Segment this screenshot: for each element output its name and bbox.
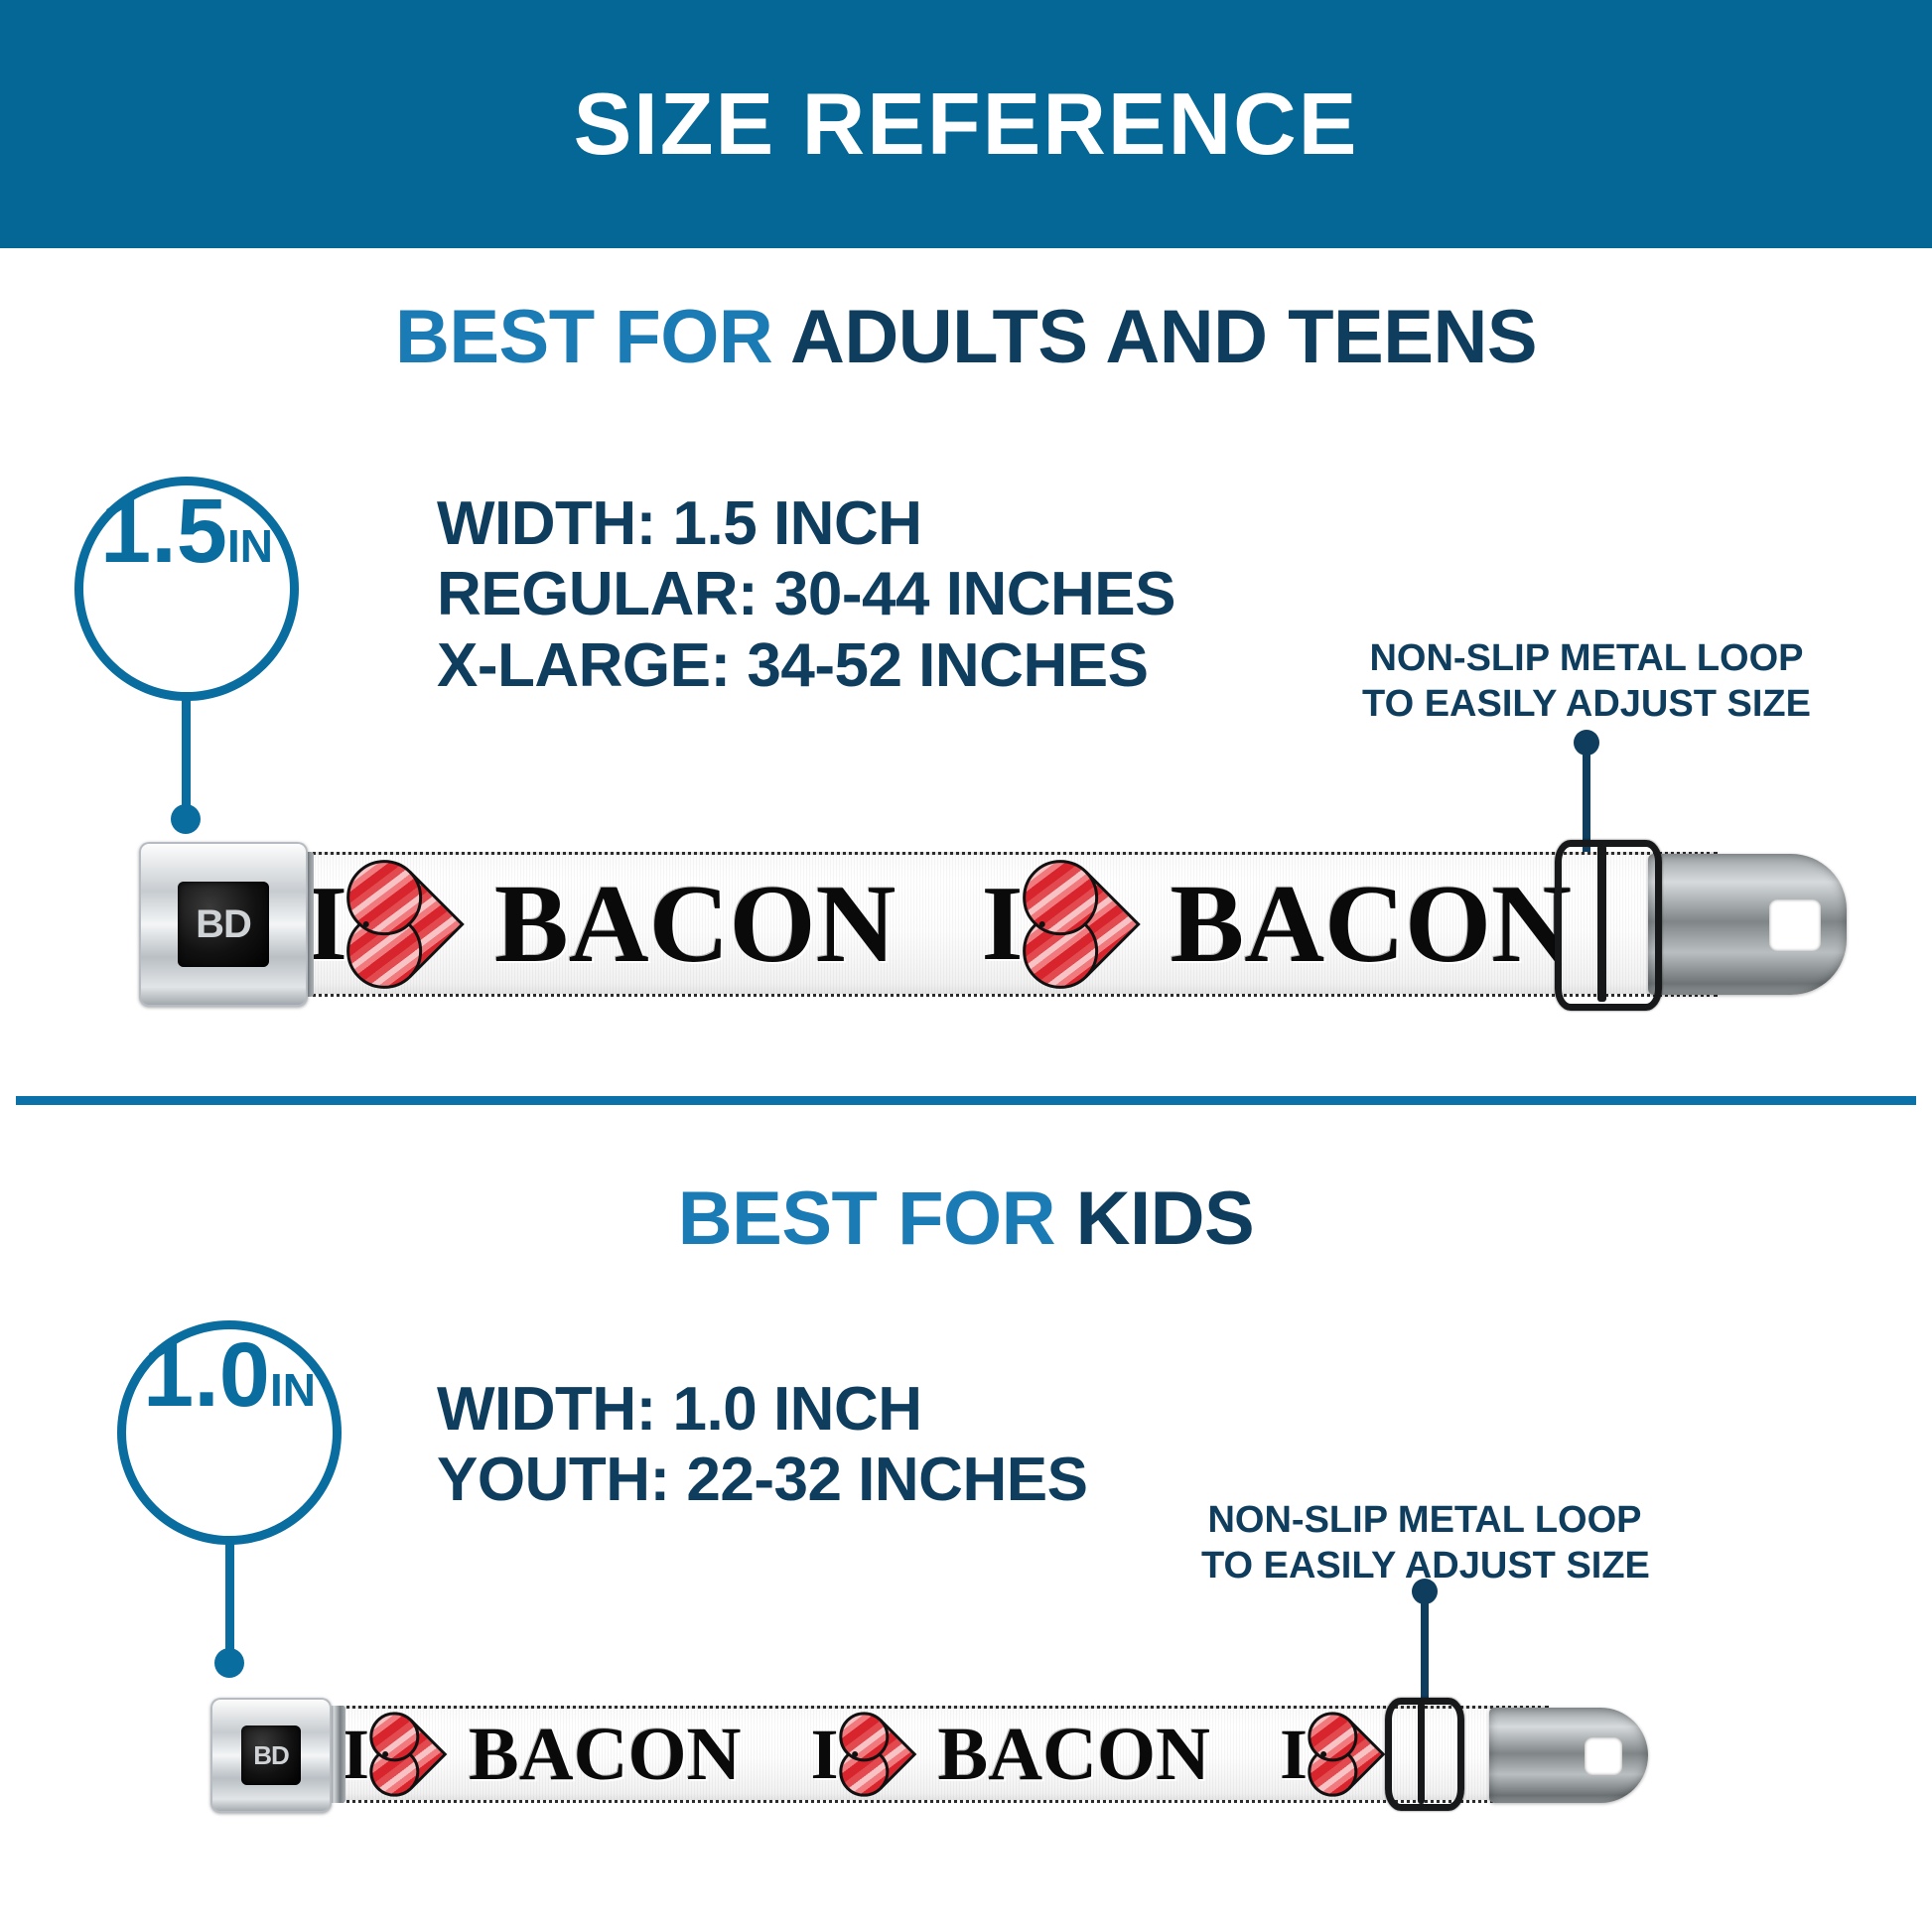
strap-word-bacon: BACON xyxy=(494,869,896,980)
callout-adults-line xyxy=(1583,743,1590,852)
belt-metal-tongue-adults xyxy=(1648,854,1847,995)
belt-buckle-kids[interactable]: BD xyxy=(210,1698,332,1813)
section-heading-kids-emphasis: KIDS xyxy=(1076,1176,1255,1261)
spec-list-adults: WIDTH: 1.5 INCH REGULAR: 30-44 INCHES X-… xyxy=(437,488,1175,701)
belt-buckle-adults[interactable]: BD xyxy=(139,842,308,1007)
spec-line: WIDTH: 1.0 INCH xyxy=(437,1374,1087,1445)
bacon-heart-icon xyxy=(846,1720,916,1790)
belt-loop-center-bar xyxy=(1597,845,1606,1002)
belt-loop-center-bar xyxy=(1418,1703,1425,1804)
heart-lobe xyxy=(359,1706,430,1772)
strap-print-row: I BACON I BACON I xyxy=(328,1717,1389,1792)
page-title: SIZE REFERENCE xyxy=(0,0,1932,248)
strap-word-bacon: BACON xyxy=(1171,869,1572,980)
buckle-logo-plate: BD xyxy=(241,1725,301,1785)
strap-letter-i: I xyxy=(982,871,1024,978)
section-heading-adults: BEST FOR ADULTS AND TEENS xyxy=(0,294,1932,380)
strap-letter-i: I xyxy=(1280,1719,1308,1790)
section-heading-kids-prefix: BEST FOR xyxy=(678,1176,1076,1261)
size-circle-kids-leader-dot xyxy=(214,1648,244,1678)
belt-metal-tongue-kids xyxy=(1489,1708,1648,1803)
belt-tongue-hole xyxy=(1585,1737,1622,1775)
size-circle-kids-leader-line xyxy=(225,1539,234,1658)
section-heading-adults-emphasis: ADULTS AND TEENS xyxy=(790,295,1537,379)
spec-line: YOUTH: 22-32 INCHES xyxy=(437,1445,1087,1515)
size-circle-adults-value: 1.5 xyxy=(100,485,227,577)
heart-lobe xyxy=(1298,1706,1368,1772)
strap-letter-i: I xyxy=(811,1719,839,1790)
size-circle-adults-unit: IN xyxy=(227,523,273,569)
spec-line: WIDTH: 1.5 INCH xyxy=(437,488,1175,559)
size-circle-adults: 1.5IN xyxy=(74,477,299,701)
bd-shield-logo-icon: BD xyxy=(253,1742,289,1768)
bacon-heart-icon xyxy=(1315,1720,1386,1790)
bacon-heart-icon xyxy=(377,1720,448,1790)
size-circle-adults-leader-line xyxy=(182,695,191,814)
belt-adjuster-loop-kids xyxy=(1385,1698,1464,1811)
callout-nonslip-loop-adults: NON-SLIP METAL LOOP TO EASILY ADJUST SIZ… xyxy=(1348,635,1825,728)
bacon-heart-icon xyxy=(1034,871,1140,977)
callout-line-1: NON-SLIP METAL LOOP xyxy=(1348,635,1825,681)
section-divider xyxy=(16,1096,1916,1105)
bacon-heart-icon xyxy=(357,871,464,977)
section-heading-adults-prefix: BEST FOR xyxy=(395,295,790,379)
strap-word-bacon: BACON xyxy=(469,1717,741,1792)
buckle-logo-plate: BD xyxy=(178,882,269,967)
spec-line: X-LARGE: 34-52 INCHES xyxy=(437,630,1175,701)
strap-letter-i: I xyxy=(342,1719,369,1790)
size-circle-kids-value: 1.0 xyxy=(143,1329,270,1421)
strap-print-row: I BACON I BACON I BAC xyxy=(288,869,1718,980)
callout-line-1: NON-SLIP METAL LOOP xyxy=(1201,1497,1648,1543)
section-heading-kids: BEST FOR KIDS xyxy=(0,1175,1932,1262)
spec-list-kids: WIDTH: 1.0 INCH YOUTH: 22-32 INCHES xyxy=(437,1374,1087,1516)
bd-shield-logo-icon: BD xyxy=(196,904,251,944)
callout-line-2: TO EASILY ADJUST SIZE xyxy=(1348,681,1825,727)
heart-lobe xyxy=(828,1706,898,1772)
callout-nonslip-loop-kids: NON-SLIP METAL LOOP TO EASILY ADJUST SIZ… xyxy=(1201,1497,1648,1589)
size-circle-adults-leader-dot xyxy=(171,804,201,834)
belt-adjuster-loop-adults xyxy=(1555,840,1662,1011)
belt-strap-adults: I BACON I BACON I BAC xyxy=(288,852,1718,997)
strap-word-bacon: BACON xyxy=(938,1717,1210,1792)
size-circle-kids: 1.0IN xyxy=(117,1320,342,1545)
spec-line: REGULAR: 30-44 INCHES xyxy=(437,559,1175,629)
callout-kids-line xyxy=(1421,1591,1429,1701)
belt-strap-kids: I BACON I BACON I xyxy=(328,1706,1549,1803)
belt-tongue-hole xyxy=(1769,899,1821,951)
size-circle-kids-unit: IN xyxy=(270,1367,316,1413)
